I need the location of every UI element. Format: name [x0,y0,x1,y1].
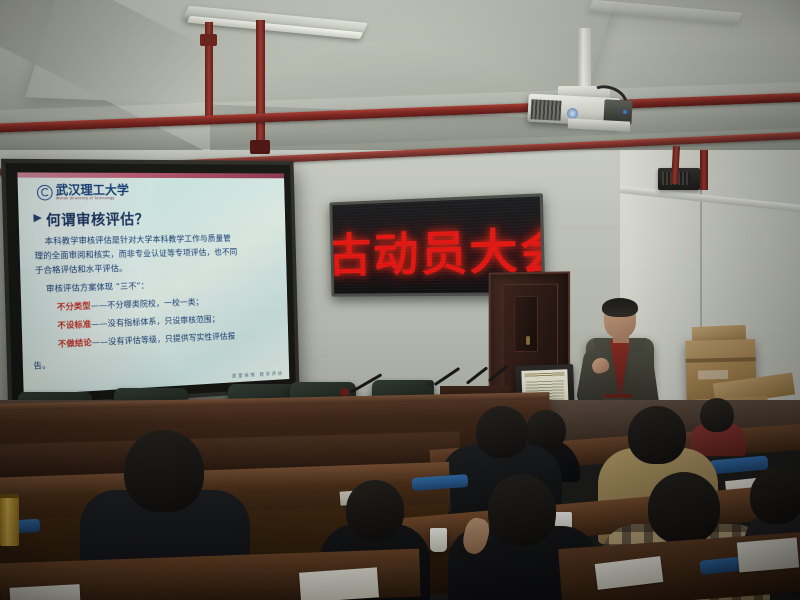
projector-mount-pole [578,28,591,92]
pipe-corner-vertical [700,150,708,190]
paper-cup-1[interactable] [430,528,447,552]
paper-document-5 [10,584,81,600]
box-tape [686,357,756,363]
slide-surface: 武汉理工大学 Wuhan University of Technology 何谓… [17,172,289,395]
projector-vent-icon [530,99,561,121]
audience-head [346,480,404,540]
microphone-head-2[interactable] [427,380,434,387]
university-logo-icon [37,185,53,201]
university-logo: 武汉理工大学 Wuhan University of Technology [37,184,129,201]
slide-tail-text: 告。 [33,360,50,370]
slide-title: 何谓审核评估？ [46,209,149,230]
slide-footer: 质量保障 教学评估 [232,371,284,380]
pipe-drop-right [256,20,265,148]
paper-document-7 [737,537,799,572]
fluorescent-light-fixture-secondary [588,0,743,24]
pipe-fitting-lower [250,140,270,154]
projection-screen: 武汉理工大学 Wuhan University of Technology 何谓… [1,159,300,410]
slide-point-2-keyword: 不设标准 [57,319,91,331]
paper-document-3 [299,567,379,600]
audience-head [488,474,556,546]
projector-status-led-icon [623,110,627,114]
audience-head [628,406,686,464]
audience-head [750,468,800,524]
university-name-en: Wuhan University of Technology [56,197,129,201]
audience-head [648,472,720,544]
presenter-glasses-icon [607,313,633,320]
slide-watermark: ··· [28,305,45,313]
photo-scene: 古动员大会 武汉理工大学 Wuhan University of Technol… [0,0,800,600]
thermos-flask[interactable] [0,498,19,546]
slide-bullet-arrow-icon [33,214,42,222]
door-handle-icon[interactable] [526,336,530,345]
slide-point-1-keyword: 不分类型 [57,300,91,311]
slide-paragraph-line-2: 理的全面审阅和核实，而非专业认证等专项评估，也不同 [34,247,237,260]
slide-paragraph-line-3: 于合格评估和水平评估。 [35,264,127,275]
university-name-cn: 武汉理工大学 [56,184,130,196]
box-label [698,370,728,380]
slide-paragraph-line-1: 本科教学审核评估是针对大学本科教学工作与质量管 [45,234,232,246]
pipe-fitting-upper [200,34,217,46]
audience-head [476,406,528,458]
ceiling [0,0,800,175]
slide-point-3-keyword: 不做结论 [58,337,92,349]
audience-head [124,430,204,512]
slide-header-bar [17,172,284,178]
